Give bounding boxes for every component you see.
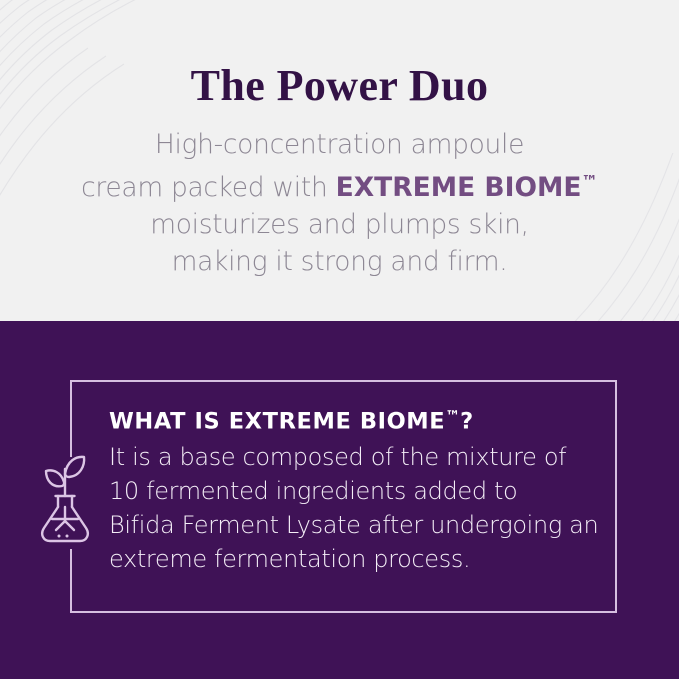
- panel-line-4: extreme fermentation process.: [109, 542, 639, 576]
- hero-line-2-prefix: cream packed with: [81, 172, 336, 203]
- info-section: WHAT IS EXTREME BIOME™? It is a base com…: [0, 321, 679, 679]
- hero-description: High-concentration ampoule cream packed …: [0, 126, 679, 280]
- panel-heading-suffix: ?: [460, 408, 474, 434]
- panel-line-3: Bifida Ferment Lysate after undergoing a…: [109, 508, 639, 542]
- brand-name-extreme-biome: EXTREME BIOME™: [336, 172, 598, 203]
- hero-line-3: moisturizes and plumps skin,: [0, 206, 679, 243]
- hero-section: The Power Duo High-concentration ampoule…: [0, 0, 679, 321]
- panel-heading: WHAT IS EXTREME BIOME™?: [109, 402, 629, 435]
- hero-line-1: High-concentration ampoule: [0, 126, 679, 163]
- hero-line-4: making it strong and firm.: [0, 243, 679, 280]
- panel-line-1: It is a base composed of the mixture of: [109, 440, 639, 474]
- trademark-symbol: ™: [581, 172, 597, 191]
- panel-description: It is a base composed of the mixture of …: [109, 440, 639, 576]
- promo-graphic: The Power Duo High-concentration ampoule…: [0, 0, 679, 679]
- trademark-symbol-heading: ™: [445, 407, 460, 425]
- page-title: The Power Duo: [0, 60, 679, 112]
- panel-line-2: 10 fermented ingredients added to: [109, 474, 639, 508]
- hero-line-2: cream packed with EXTREME BIOME™: [0, 163, 679, 206]
- panel-heading-text: WHAT IS EXTREME BIOME: [109, 408, 445, 434]
- flask-sprout-icon: [34, 450, 96, 550]
- brand-name-text: EXTREME BIOME: [336, 172, 582, 203]
